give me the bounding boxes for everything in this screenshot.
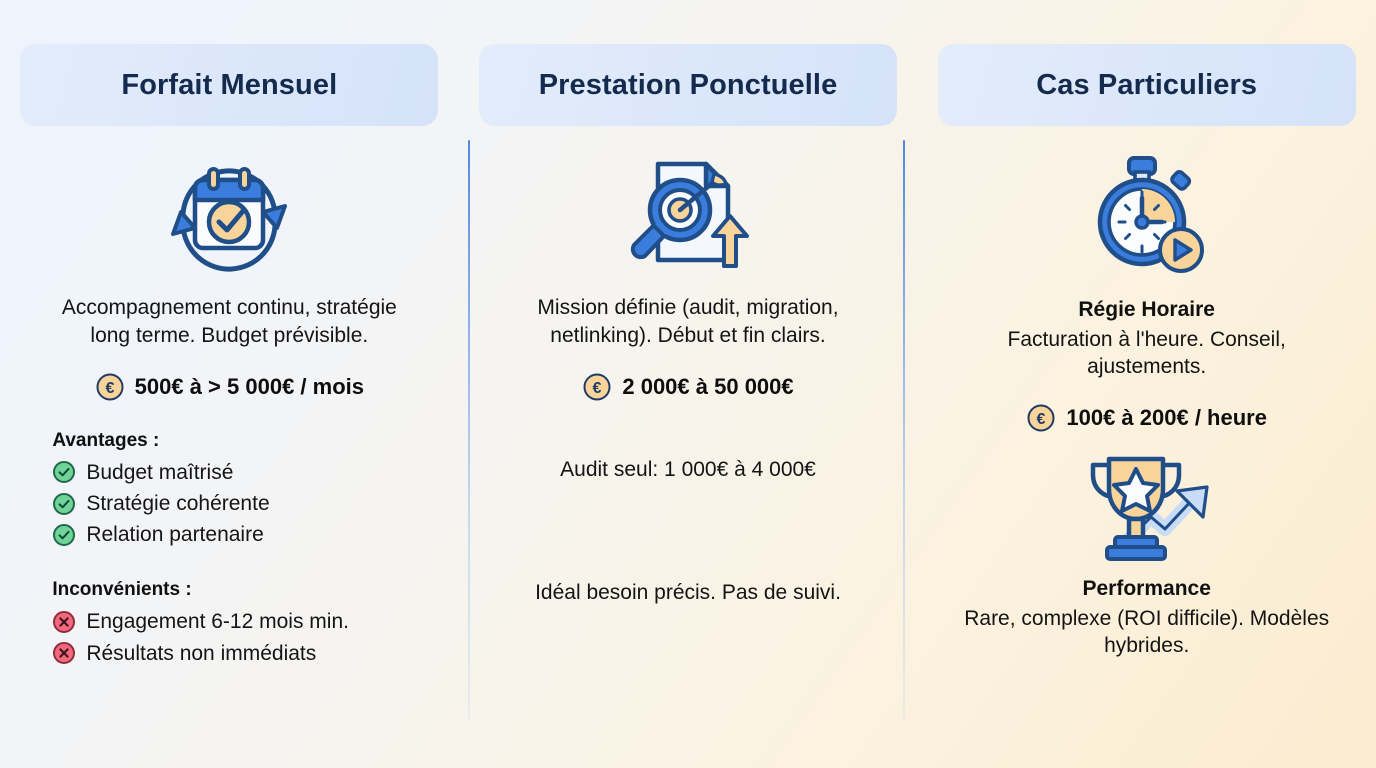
svg-text:€: € <box>105 380 114 397</box>
column-prestation-ponctuelle: Prestation Ponctuelle <box>459 0 918 768</box>
euro-coin-icon: € <box>95 372 125 402</box>
list-item: Budget maîtrisé <box>52 460 414 485</box>
column-header-pill-1: Forfait Mensuel <box>20 44 438 126</box>
column-title-2: Prestation Ponctuelle <box>539 69 838 102</box>
section-desc-regie: Facturation à l'heure. Conseil, ajusteme… <box>957 326 1337 381</box>
price-text-3: 100€ à 200€ / heure <box>1066 405 1267 431</box>
price-text-2: 2 000€ à 50 000€ <box>622 374 793 400</box>
column-header-pill-3: Cas Particuliers <box>938 44 1356 126</box>
section-title-regie: Régie Horaire <box>1078 298 1215 322</box>
check-circle-icon <box>52 492 76 516</box>
pros-block: Avantages : Budget maîtrisé Stratégie co… <box>44 430 414 554</box>
pros-heading: Avantages : <box>52 430 414 452</box>
price-row-3: € 100€ à 200€ / heure <box>1026 403 1267 433</box>
price-row-1: € 500€ à > 5 000€ / mois <box>95 372 364 402</box>
svg-text:€: € <box>1037 411 1046 428</box>
list-item: Engagement 6-12 mois min. <box>52 609 414 634</box>
pros-item-label: Stratégie cohérente <box>86 491 269 516</box>
pros-item-label: Relation partenaire <box>86 522 263 547</box>
price-row-2: € 2 000€ à 50 000€ <box>582 372 793 402</box>
column-title-3: Cas Particuliers <box>1036 69 1257 102</box>
list-item: Stratégie cohérente <box>52 491 414 516</box>
check-circle-icon <box>52 523 76 547</box>
cons-item-label: Résultats non immédiats <box>86 641 316 666</box>
trophy-growth-arrow-icon <box>1067 443 1227 563</box>
section-title-performance: Performance <box>1082 577 1210 601</box>
cross-circle-icon <box>52 610 76 634</box>
cons-item-label: Engagement 6-12 mois min. <box>86 609 349 634</box>
column-title-1: Forfait Mensuel <box>121 69 337 102</box>
price-text-1: 500€ à > 5 000€ / mois <box>135 374 364 400</box>
check-circle-icon <box>52 460 76 484</box>
audit-note: Audit seul: 1 000€ à 4 000€ <box>560 456 816 483</box>
document-target-search-icon <box>618 150 758 280</box>
euro-coin-icon: € <box>582 372 612 402</box>
column-description-1: Accompagnement continu, stratégie long t… <box>44 294 414 350</box>
comparison-board: Forfait Mensuel Accompagnement continu, … <box>0 0 1376 768</box>
list-item: Relation partenaire <box>52 522 414 547</box>
column-header-pill-2: Prestation Ponctuelle <box>479 44 897 126</box>
column-cas-particuliers: Cas Particuliers <box>917 0 1376 768</box>
column-description-2: Mission définie (audit, migration, netli… <box>488 294 888 350</box>
svg-text:€: € <box>593 380 602 397</box>
column-divider-2 <box>903 140 905 720</box>
calendar-recurring-check-icon <box>159 150 299 280</box>
cons-heading: Inconvénients : <box>52 579 414 601</box>
cross-circle-icon <box>52 641 76 665</box>
stopwatch-play-icon <box>1077 150 1217 280</box>
cons-block: Inconvénients : Engagement 6-12 mois min… <box>44 579 414 671</box>
list-item: Résultats non immédiats <box>52 641 414 666</box>
pros-item-label: Budget maîtrisé <box>86 460 233 485</box>
euro-coin-icon: € <box>1026 403 1056 433</box>
footer-note-2: Idéal besoin précis. Pas de suivi. <box>535 579 841 606</box>
column-divider-1 <box>468 140 470 720</box>
column-forfait-mensuel: Forfait Mensuel Accompagnement continu, … <box>0 0 459 768</box>
section-desc-performance: Rare, complexe (ROI difficile). Modèles … <box>957 605 1337 660</box>
